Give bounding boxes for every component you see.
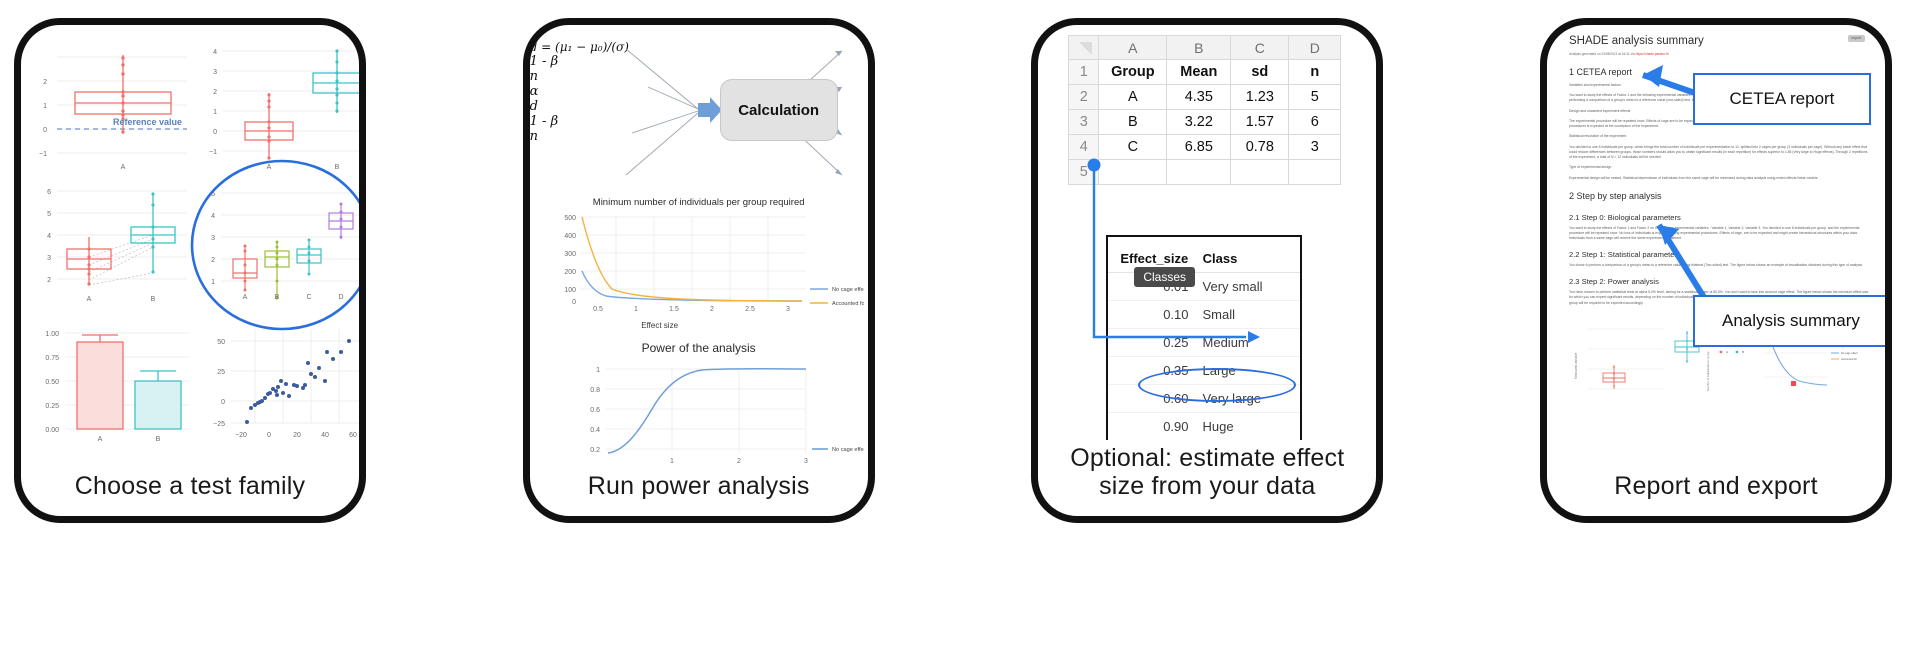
- column-header-c[interactable]: C: [1231, 36, 1289, 60]
- column-header-b[interactable]: B: [1167, 36, 1231, 60]
- cell-c3[interactable]: 1.57: [1231, 110, 1289, 135]
- legend-accounted-for: Accounted for: [832, 301, 864, 307]
- panel-estimate-effect-size: A B C D 1 Group Mean sd n 2: [1031, 18, 1383, 523]
- cell-b3[interactable]: 3.22: [1167, 110, 1231, 135]
- svg-text:0: 0: [213, 129, 217, 136]
- svg-text:1: 1: [43, 103, 47, 110]
- svg-text:2: 2: [213, 89, 217, 96]
- svg-text:−20: −20: [235, 432, 247, 439]
- report-heading-step1: 2.2 Step 1: Statistical parameters: [1569, 249, 1869, 261]
- chart-min-individuals: 500 400 300 200 100 0 0.5 1 1.5 2 2.5 3 …: [546, 211, 864, 319]
- svg-text:1.00: 1.00: [45, 331, 59, 338]
- spreadsheet-column-header-row: A B C D: [1069, 36, 1341, 60]
- svg-text:A: A: [87, 296, 92, 303]
- panel-choose-test-family: 2 1 0 −1 A Reference v: [14, 18, 366, 523]
- svg-text:3: 3: [213, 69, 217, 76]
- effect-size-class: Medium: [1203, 335, 1301, 350]
- effect-size-value: 0.10: [1108, 307, 1202, 322]
- svg-text:4: 4: [47, 233, 51, 240]
- column-header-a[interactable]: A: [1099, 36, 1167, 60]
- svg-text:3: 3: [786, 306, 790, 313]
- figure-legend-item-b: B: [1742, 350, 1744, 354]
- table-row[interactable]: 1 Group Mean sd n: [1069, 60, 1341, 85]
- svg-text:B: B: [151, 296, 156, 303]
- callout-analysis-summary[interactable]: Analysis summary: [1693, 295, 1885, 347]
- row-number-2[interactable]: 2: [1069, 85, 1099, 110]
- report-heading-step-by-step: 2 Step by step analysis: [1569, 190, 1869, 204]
- row-number-5[interactable]: 5: [1069, 160, 1099, 185]
- report-paragraph: You want to study the effects of Factor …: [1569, 226, 1869, 242]
- svg-text:5: 5: [47, 211, 51, 218]
- cell-c2[interactable]: 1.23: [1231, 85, 1289, 110]
- cell-a1[interactable]: Group: [1099, 60, 1167, 85]
- svg-text:0.8: 0.8: [590, 387, 600, 394]
- svg-text:0.6: 0.6: [590, 407, 600, 414]
- callout-cetea-report[interactable]: CETEA report: [1693, 73, 1871, 125]
- svg-text:200: 200: [564, 269, 576, 276]
- chart-n-xlabel: Effect size: [530, 321, 790, 330]
- callout-label: CETEA report: [1730, 89, 1835, 109]
- cell-b1[interactable]: Mean: [1167, 60, 1231, 85]
- data-spreadsheet[interactable]: A B C D 1 Group Mean sd n 2: [1068, 35, 1341, 185]
- svg-text:100: 100: [564, 287, 576, 294]
- svg-text:300: 300: [564, 251, 576, 258]
- svg-text:3: 3: [804, 458, 808, 465]
- panel-4-body: export SHADE analysis summary Analysis g…: [1547, 25, 1885, 468]
- cell-c1[interactable]: sd: [1231, 60, 1289, 85]
- row-number-3[interactable]: 3: [1069, 110, 1099, 135]
- header-class: Class: [1203, 251, 1301, 266]
- svg-text:60: 60: [349, 432, 357, 439]
- table-row[interactable]: 4 C 6.85 0.78 3: [1069, 135, 1341, 160]
- figure-right-legend-item-1: Accounted for: [1841, 357, 1857, 361]
- panel-run-power-analysis: Calculation α d = (μ₁ − μ₀)/(σ) 1 - β n …: [523, 18, 875, 523]
- report-paragraph: You chose to perform a comparison of a g…: [1569, 263, 1869, 268]
- panel-3-body: A B C D 1 Group Mean sd n 2: [1038, 25, 1376, 440]
- svg-text:400: 400: [564, 233, 576, 240]
- cell-a2[interactable]: A: [1099, 85, 1167, 110]
- effect-size-class: Very small: [1203, 279, 1301, 294]
- svg-text:50: 50: [217, 339, 225, 346]
- cell-d1[interactable]: n: [1289, 60, 1341, 85]
- cell-d4[interactable]: 3: [1289, 135, 1341, 160]
- svg-text:−1: −1: [209, 149, 217, 156]
- effect-size-class: Huge: [1203, 419, 1301, 434]
- svg-text:0: 0: [267, 432, 271, 439]
- svg-text:0: 0: [221, 399, 225, 406]
- effect-size-row-small[interactable]: 0.10 Small: [1108, 301, 1300, 329]
- callout-label: Analysis summary: [1722, 311, 1860, 331]
- cell-c4[interactable]: 0.78: [1231, 135, 1289, 160]
- cell-d2[interactable]: 5: [1289, 85, 1341, 110]
- header-effect-size: Effect_size: [1108, 251, 1202, 266]
- report-heading-step0: 2.1 Step 0: Biological parameters: [1569, 212, 1869, 224]
- row-number-1[interactable]: 1: [1069, 60, 1099, 85]
- svg-text:500: 500: [564, 215, 576, 222]
- svg-text:6: 6: [47, 189, 51, 196]
- report-paragraph: You decided to use 6 individuals per gro…: [1569, 145, 1869, 161]
- svg-text:0.25: 0.25: [45, 403, 59, 410]
- column-header-d[interactable]: D: [1289, 36, 1341, 60]
- svg-text:2: 2: [43, 79, 47, 86]
- figure-legend-item-a: A: [1726, 350, 1728, 354]
- svg-text:0.50: 0.50: [45, 379, 59, 386]
- report-title: SHADE analysis summary: [1569, 33, 1869, 51]
- effect-size-row-medium[interactable]: 0.25 Medium: [1108, 329, 1300, 357]
- svg-text:B: B: [156, 436, 161, 443]
- svg-text:A: A: [98, 436, 103, 443]
- panel-2-body: Calculation α d = (μ₁ − μ₀)/(σ) 1 - β n …: [530, 25, 868, 468]
- svg-text:0.4: 0.4: [590, 427, 600, 434]
- svg-text:25: 25: [217, 369, 225, 376]
- svg-text:0: 0: [572, 299, 576, 306]
- export-badge[interactable]: export: [1848, 35, 1865, 42]
- figure-y-axis-label: Measured variable: [1574, 353, 1578, 379]
- chart-box-one-group: 2 1 0 −1 A: [27, 33, 195, 173]
- svg-text:2: 2: [737, 458, 741, 465]
- row-number-4[interactable]: 4: [1069, 135, 1099, 160]
- chart-box-two-groups: 4 3 2 1 0 −1: [197, 33, 359, 173]
- cell-c5[interactable]: [1231, 160, 1289, 185]
- svg-text:3: 3: [47, 255, 51, 262]
- report-paragraph: Experimental design will be nested. Stat…: [1569, 176, 1869, 181]
- workflow-board: 2 1 0 −1 A Reference v: [0, 0, 1906, 660]
- highlight-ellipse-large-row: [1138, 368, 1296, 402]
- legend-power-no-cage-effect: No cage effect: [832, 447, 864, 453]
- report-url-link[interactable]: https://shade.pasteur.fr/: [1636, 52, 1669, 56]
- report-subheading: Statistical resolution of the experiment: [1569, 134, 1869, 139]
- svg-text:40: 40: [321, 432, 329, 439]
- table-row[interactable]: 5: [1069, 160, 1341, 185]
- effect-size-class: Small: [1203, 307, 1301, 322]
- panel-report-and-export: export SHADE analysis summary Analysis g…: [1540, 18, 1892, 523]
- figure-mid-y-axis-label: Number of individuals per group: [1706, 351, 1710, 391]
- cell-d5[interactable]: [1289, 160, 1341, 185]
- effect-size-row-huge[interactable]: 0.90 Huge: [1108, 413, 1300, 440]
- panel-1-body: 2 1 0 −1 A Reference v: [21, 25, 359, 468]
- chart-box-paired: 6 5 4 3 2: [27, 177, 195, 307]
- report-subtitle: Analysis generated on 23/08/2021 at 16:3…: [1569, 52, 1869, 57]
- chart-power-title: Power of the analysis: [530, 341, 868, 355]
- svg-text:1: 1: [213, 109, 217, 116]
- classes-tooltip: Classes: [1134, 267, 1195, 287]
- report-subheading: Type of experimental design: [1569, 165, 1869, 170]
- select-all-corner[interactable]: [1069, 36, 1099, 60]
- svg-text:1: 1: [596, 367, 600, 374]
- table-row[interactable]: 3 B 3.22 1.57 6: [1069, 110, 1341, 135]
- table-row[interactable]: 2 A 4.35 1.23 5: [1069, 85, 1341, 110]
- chart-scatter-regression: 50 25 0 −25 −20 0 20 40 60: [197, 315, 359, 443]
- cell-a4[interactable]: C: [1099, 135, 1167, 160]
- effect-size-class-table[interactable]: Effect_size Class 0.01 Very small 0.10 S…: [1106, 235, 1302, 440]
- svg-text:20: 20: [293, 432, 301, 439]
- cell-a5[interactable]: [1099, 160, 1167, 185]
- cell-b2[interactable]: 4.35: [1167, 85, 1231, 110]
- chart-power-curve: 1 0.8 0.6 0.4 0.2 1 2 3 No cage effect: [546, 361, 864, 468]
- svg-text:1: 1: [634, 306, 638, 313]
- panel-1-caption: Choose a test family: [21, 468, 359, 516]
- cell-d3[interactable]: 6: [1289, 110, 1341, 135]
- svg-text:−1: −1: [39, 151, 47, 158]
- svg-text:0.00: 0.00: [45, 427, 59, 434]
- cell-b5[interactable]: [1167, 160, 1231, 185]
- calculation-box: Calculation: [720, 79, 838, 141]
- svg-text:0: 0: [43, 127, 47, 134]
- chart-n-title: Minimum number of individuals per group …: [530, 197, 868, 208]
- svg-text:2: 2: [710, 306, 714, 313]
- svg-text:A: A: [121, 164, 126, 171]
- reference-value-label: Reference value: [113, 117, 182, 127]
- svg-text:0.2: 0.2: [590, 447, 600, 454]
- panel-4-caption: Report and export: [1547, 468, 1885, 516]
- highlight-ellipse-test-family: [187, 157, 359, 333]
- panel-3-caption: Optional: estimate effect size from your…: [1038, 440, 1376, 516]
- cell-a3[interactable]: B: [1099, 110, 1167, 135]
- figure-right-legend-item-0: No cage effect: [1841, 351, 1858, 355]
- chart-bar-proportions: 1.00 0.75 0.50 0.25 0.00 A B: [27, 315, 195, 443]
- svg-text:−25: −25: [213, 421, 225, 428]
- svg-text:2: 2: [47, 277, 51, 284]
- effect-size-value: 0.25: [1108, 335, 1202, 350]
- effect-size-value: 0.90: [1108, 419, 1202, 434]
- svg-text:0.5: 0.5: [593, 306, 603, 313]
- cell-b4[interactable]: 6.85: [1167, 135, 1231, 160]
- svg-text:0.75: 0.75: [45, 355, 59, 362]
- svg-text:1.5: 1.5: [669, 306, 679, 313]
- svg-text:1: 1: [670, 458, 674, 465]
- report-generated-text: Analysis generated on 23/08/2021 at 16:3…: [1569, 52, 1636, 56]
- legend-no-cage-effect: No cage effect: [832, 287, 864, 293]
- svg-text:2.5: 2.5: [745, 306, 755, 313]
- report-heading-step2: 2.3 Step 2: Power analysis: [1569, 276, 1869, 288]
- svg-text:4: 4: [213, 49, 217, 56]
- panel-2-caption: Run power analysis: [530, 468, 868, 516]
